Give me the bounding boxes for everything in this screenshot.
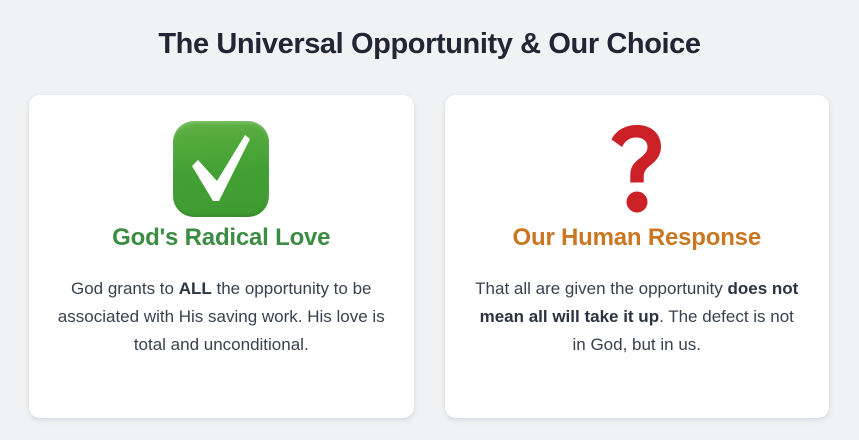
card-heading: God's Radical Love bbox=[112, 224, 330, 253]
page-title: The Universal Opportunity & Our Choice bbox=[0, 28, 859, 61]
card-body-lead: That all are given the opportunity bbox=[475, 279, 727, 298]
card-body-lead: God grants to bbox=[71, 279, 179, 298]
card-icon-slot bbox=[467, 120, 808, 218]
card-body: That all are given the opportunity does … bbox=[472, 275, 802, 359]
card-heading: Our Human Response bbox=[513, 224, 761, 253]
card-grid: God's Radical Love God grants to ALL the… bbox=[29, 95, 829, 418]
red-question-mark-icon bbox=[589, 121, 685, 217]
page-root: The Universal Opportunity & Our Choice G… bbox=[0, 0, 859, 440]
card-icon-slot bbox=[51, 120, 392, 218]
card-body-emphasis: ALL bbox=[179, 279, 212, 298]
card-body: God grants to ALL the opportunity to be … bbox=[56, 275, 386, 359]
white-heavy-check-mark-icon bbox=[173, 121, 269, 217]
card-gods-radical-love: God's Radical Love God grants to ALL the… bbox=[29, 95, 414, 418]
card-our-human-response: Our Human Response That all are given th… bbox=[445, 95, 830, 418]
